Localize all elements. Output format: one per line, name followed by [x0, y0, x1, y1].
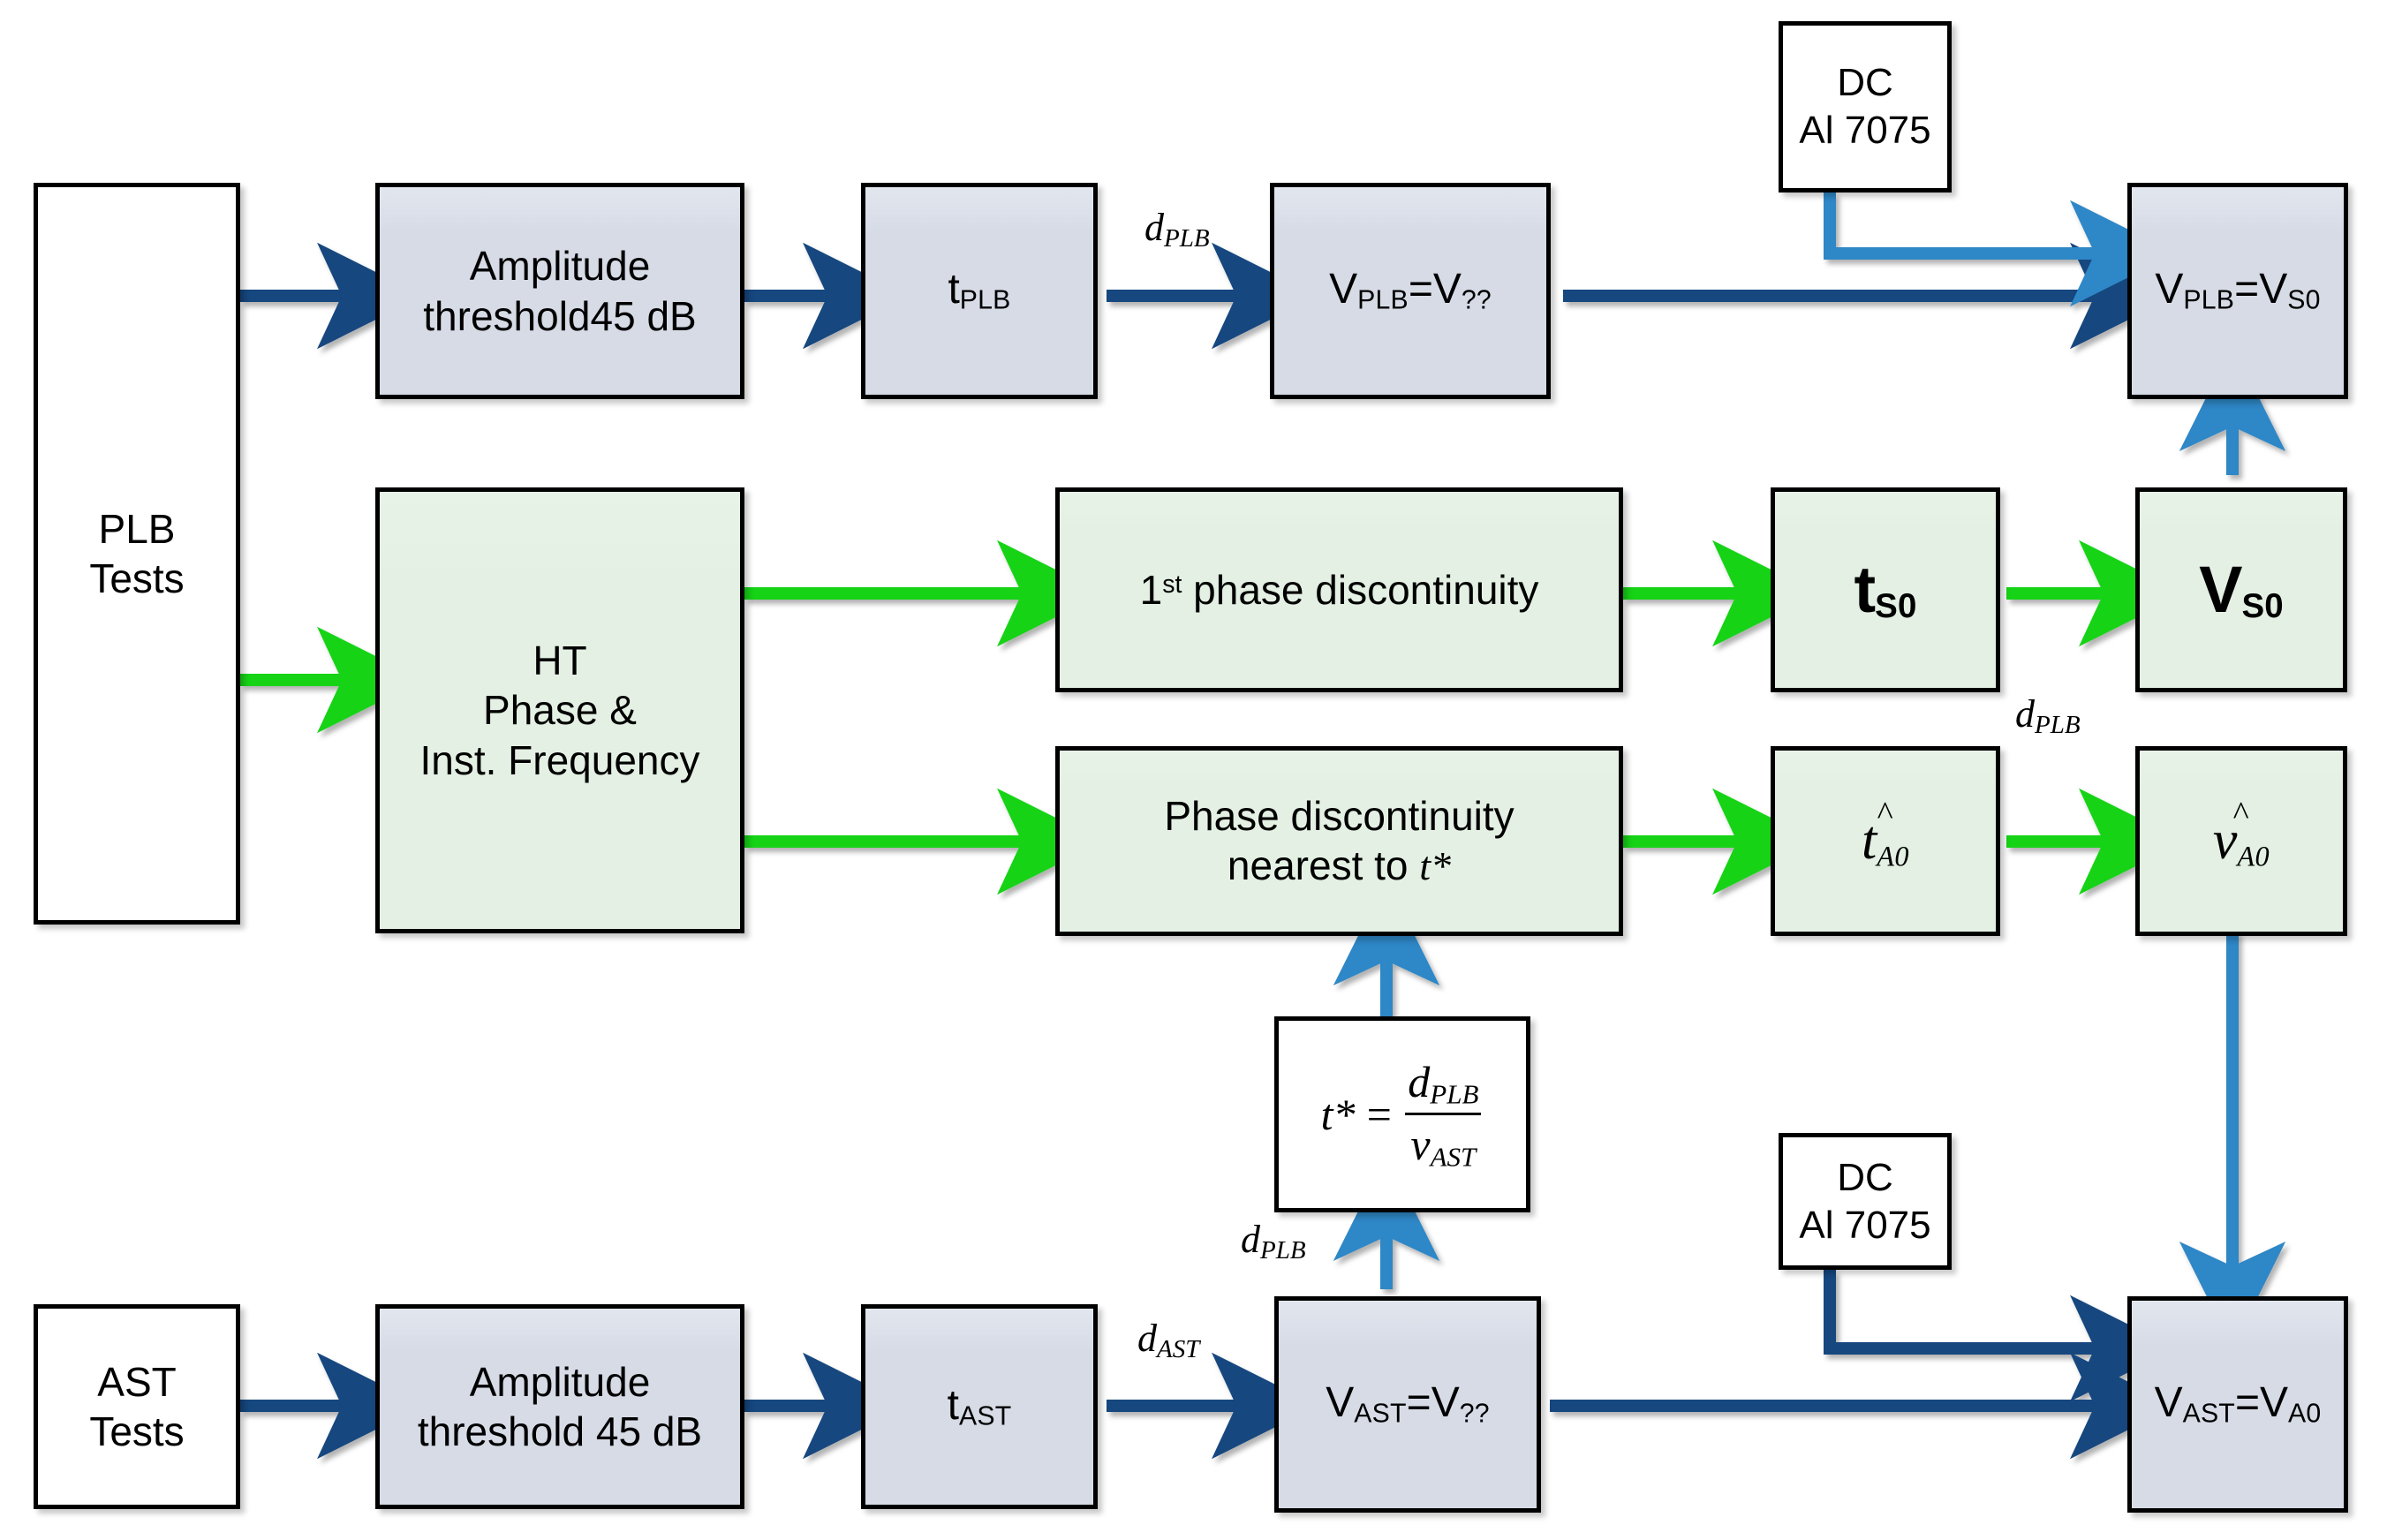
- tstar-den-sub: AST: [1431, 1141, 1477, 1172]
- phase-nearest-line2-pre: nearest to: [1227, 842, 1419, 888]
- t-hat-a0-glyph: ^tA0: [1862, 808, 1909, 875]
- first-phase-prefix: 1: [1140, 567, 1163, 613]
- node-plb-amplitude-threshold[interactable]: Amplitude threshold45 dB: [375, 183, 744, 399]
- node-tstar-equation[interactable]: t* = dPLB vAST: [1274, 1016, 1530, 1212]
- v-plb-s0-sub1: PLB: [2183, 286, 2234, 315]
- node-plb-tests[interactable]: PLB Tests: [34, 183, 240, 925]
- node-dc-al-7075-bottom[interactable]: DC Al 7075: [1779, 1133, 1952, 1270]
- v-plb-unknown-sub2: ??: [1462, 286, 1492, 315]
- node-first-phase-discontinuity[interactable]: 1st phase discontinuity: [1055, 487, 1623, 692]
- ht-phase-line2: Phase &: [483, 687, 637, 733]
- v-ast-unknown-op: =: [1407, 1379, 1431, 1426]
- node-v-plb-equals-vs0[interactable]: VPLB=VS0: [2127, 183, 2348, 399]
- phase-nearest-line2-math: t*: [1419, 843, 1451, 888]
- dc-al-bottom-line2: Al 7075: [1799, 1204, 1930, 1247]
- v-ast-a0-base2: V: [2260, 1379, 2288, 1426]
- edge-dctop-to-vplbs0: [1830, 192, 2119, 253]
- d-plb-top-base: d: [1144, 206, 1164, 249]
- d-plb-mid-base: d: [2015, 692, 2035, 736]
- tstar-numerator: dPLB: [1402, 1055, 1484, 1113]
- v-plb-s0-base2: V: [2259, 266, 2287, 313]
- t-s0-sub: S0: [1875, 587, 1916, 625]
- ast-tests-line1: AST: [97, 1359, 176, 1405]
- node-dc-al-7075-top[interactable]: DC Al 7075: [1779, 21, 1952, 192]
- first-phase-rest: phase discontinuity: [1182, 567, 1538, 613]
- t-ast-sub: AST: [959, 1401, 1011, 1431]
- v-plb-s0-sub2: S0: [2287, 286, 2320, 315]
- plb-tests-line2: Tests: [89, 555, 184, 601]
- d-plb-low-sub: PLB: [1260, 1236, 1306, 1264]
- edge-label-d-ast: dAST: [1137, 1316, 1199, 1364]
- flowchart-canvas: PLB Tests Amplitude threshold45 dB tPLB …: [0, 0, 2387, 1540]
- v-ast-a0-sub2: A0: [2288, 1400, 2321, 1429]
- v-plb-unknown-base1: V: [1329, 266, 1357, 313]
- d-ast-sub: AST: [1157, 1335, 1199, 1363]
- node-ast-amplitude-threshold[interactable]: Amplitude threshold 45 dB: [375, 1304, 744, 1509]
- d-plb-low-base: d: [1241, 1218, 1260, 1261]
- node-v-ast-equals-va0[interactable]: VAST=VA0: [2127, 1296, 2348, 1513]
- v-s0-sub: S0: [2241, 587, 2283, 625]
- tstar-num-sub: PLB: [1430, 1078, 1478, 1109]
- ht-phase-line1: HT: [533, 638, 586, 683]
- v-plb-unknown-op: =: [1409, 266, 1433, 313]
- node-t-s0[interactable]: tS0: [1771, 487, 2000, 692]
- t-hat-a0-base: t: [1862, 811, 1877, 871]
- v-ast-a0-base1: V: [2155, 1379, 2183, 1426]
- first-phase-sup: st: [1162, 570, 1182, 599]
- d-plb-mid-sub: PLB: [2035, 711, 2081, 739]
- v-plb-unknown-sub1: PLB: [1357, 286, 1409, 315]
- edge-label-d-plb-low: dPLB: [1241, 1217, 1306, 1265]
- tstar-den-base: v: [1410, 1120, 1430, 1169]
- v-ast-unknown-sub1: AST: [1354, 1400, 1406, 1429]
- dc-al-top-line2: Al 7075: [1799, 109, 1930, 152]
- plb-tests-line1: PLB: [99, 506, 176, 552]
- v-ast-a0-sub1: AST: [2183, 1400, 2235, 1429]
- dc-al-top-line1: DC: [1837, 61, 1893, 104]
- circumflex-icon: ^: [1877, 794, 1893, 835]
- t-hat-a0-sub: A0: [1877, 840, 1909, 872]
- tstar-fraction: dPLB vAST: [1402, 1055, 1484, 1174]
- v-hat-a0-sub: A0: [2237, 840, 2270, 872]
- node-t-hat-a0[interactable]: ^tA0: [1771, 746, 2000, 936]
- tstar-denominator: vAST: [1405, 1113, 1481, 1174]
- v-ast-a0-op: =: [2235, 1379, 2260, 1426]
- v-ast-unknown-base2: V: [1431, 1379, 1460, 1426]
- node-phase-discontinuity-nearest[interactable]: Phase discontinuity nearest to t*: [1055, 746, 1623, 936]
- v-plb-unknown-base2: V: [1433, 266, 1462, 313]
- tstar-lhs: t*: [1321, 1088, 1356, 1142]
- v-plb-s0-op: =: [2234, 266, 2259, 313]
- node-v-plb-unknown[interactable]: VPLB=V??: [1270, 183, 1551, 399]
- tstar-num-base: d: [1408, 1057, 1430, 1106]
- d-ast-base: d: [1137, 1317, 1157, 1360]
- v-s0-base: V: [2199, 553, 2241, 626]
- v-ast-unknown-sub2: ??: [1460, 1400, 1490, 1429]
- t-plb-base: t: [948, 266, 959, 313]
- ast-amplitude-line2: threshold 45 dB: [418, 1408, 702, 1454]
- v-hat-a0-glyph: ^vA0: [2213, 808, 2270, 875]
- phase-nearest-line1: Phase discontinuity: [1164, 793, 1514, 839]
- ast-tests-line2: Tests: [89, 1408, 184, 1454]
- node-t-plb[interactable]: tPLB: [861, 183, 1098, 399]
- dc-al-bottom-line1: DC: [1837, 1156, 1893, 1199]
- node-v-s0[interactable]: VS0: [2135, 487, 2347, 692]
- plb-amplitude-line2: threshold45 dB: [423, 293, 696, 339]
- d-plb-top-sub: PLB: [1164, 224, 1210, 253]
- plb-amplitude-line1: Amplitude: [470, 243, 651, 289]
- tstar-equation-expression: t* = dPLB vAST: [1321, 1055, 1484, 1174]
- ast-amplitude-line1: Amplitude: [470, 1359, 651, 1405]
- node-v-ast-unknown[interactable]: VAST=V??: [1274, 1296, 1541, 1513]
- circumflex-icon: ^: [2233, 794, 2249, 835]
- ht-phase-line3: Inst. Frequency: [419, 737, 699, 783]
- node-t-ast[interactable]: tAST: [861, 1304, 1098, 1509]
- t-ast-base: t: [948, 1382, 959, 1429]
- edge-label-d-plb-top: dPLB: [1144, 205, 1210, 253]
- node-ast-tests[interactable]: AST Tests: [34, 1304, 240, 1509]
- edge-dcbottom-to-vasta0: [1830, 1270, 2119, 1348]
- node-v-hat-a0[interactable]: ^vA0: [2135, 746, 2347, 936]
- t-s0-base: t: [1854, 553, 1875, 626]
- v-ast-unknown-base1: V: [1326, 1379, 1354, 1426]
- v-plb-s0-base1: V: [2155, 266, 2183, 313]
- edge-label-d-plb-mid: dPLB: [2015, 691, 2081, 740]
- t-plb-sub: PLB: [960, 286, 1011, 315]
- tstar-op: =: [1364, 1088, 1394, 1142]
- node-ht-phase-inst-frequency[interactable]: HT Phase & Inst. Frequency: [375, 487, 744, 933]
